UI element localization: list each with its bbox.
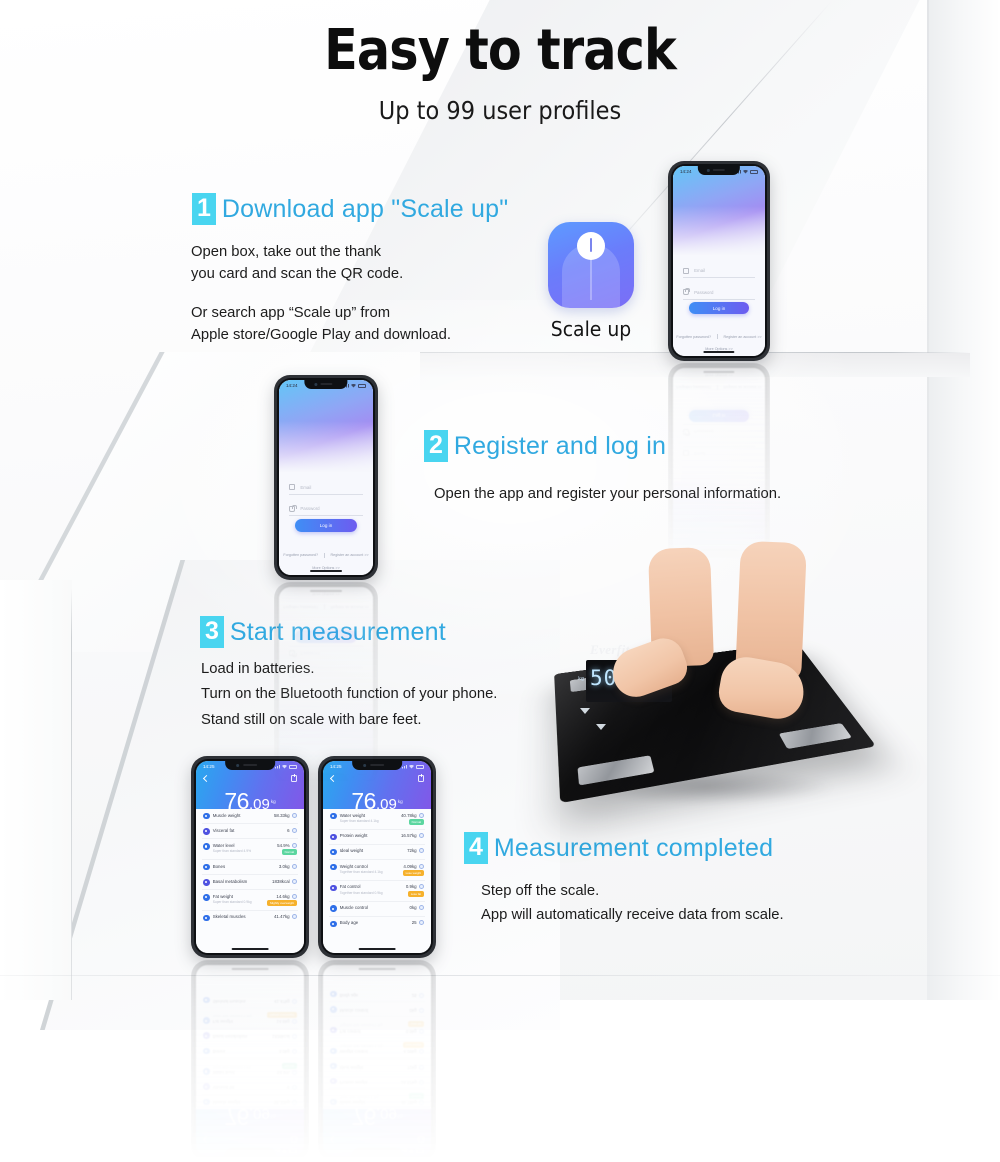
wifi-icon bbox=[409, 765, 414, 769]
metric-row[interactable]: Muscle weight58.33kg bbox=[202, 1094, 298, 1109]
weight-integer: 76 bbox=[351, 1104, 376, 1130]
metric-name: Protein weight bbox=[340, 833, 368, 838]
metric-status-badge: Lose weight bbox=[403, 1042, 424, 1048]
current-weight-display: 76.09kg bbox=[323, 1103, 431, 1130]
metric-bullet-icon bbox=[330, 905, 337, 912]
metric-texts: Body age bbox=[340, 920, 359, 925]
metric-value-group: 4.09kgLose weight bbox=[403, 864, 424, 877]
metric-label-group: Basal metabolism bbox=[203, 879, 247, 886]
register-account-link[interactable]: Register an account >> bbox=[331, 553, 369, 557]
weight-integer: 76 bbox=[224, 1104, 249, 1130]
metric-value-group: 0.9kgLose fat bbox=[406, 884, 424, 897]
metric-info-icon[interactable] bbox=[419, 833, 424, 838]
metric-value-group: 4.09kgLose weight bbox=[403, 1042, 424, 1055]
metric-row[interactable]: Weight controlTogether than standard 4.1… bbox=[329, 860, 425, 881]
status-bar-time: 14:25 bbox=[203, 1149, 215, 1154]
metric-value-group: 3.0kg bbox=[279, 1049, 297, 1054]
metric-name: Bones bbox=[213, 864, 225, 869]
metric-row[interactable]: Skeletal muscles41.47kg bbox=[202, 911, 298, 925]
metric-value-row: 0.9kg bbox=[406, 884, 424, 889]
phone-camera bbox=[236, 764, 239, 767]
metric-texts: Basal metabolism bbox=[213, 1034, 248, 1039]
phone-notch bbox=[698, 166, 740, 175]
email-placeholder: Email bbox=[300, 485, 311, 490]
metric-name: Basal metabolism bbox=[213, 879, 248, 884]
scale-app-icon bbox=[548, 222, 634, 308]
metric-info-icon[interactable] bbox=[292, 828, 297, 833]
metric-info-icon[interactable] bbox=[419, 864, 424, 869]
background-floor-baseline bbox=[0, 975, 1000, 976]
page-subtitle: Up to 99 user profiles bbox=[50, 96, 950, 125]
metric-status-badge: Lose weight bbox=[403, 870, 424, 876]
metric-value: 6 bbox=[287, 828, 289, 833]
metric-value-row: 58.33kg bbox=[274, 1100, 297, 1105]
results-header-gradient bbox=[196, 1109, 304, 1157]
metric-row[interactable]: Fat weightSuper than standard 0.9kg14.6k… bbox=[202, 890, 298, 911]
metric-value: 16.57kg bbox=[401, 833, 417, 838]
metric-texts: Basal metabolism bbox=[213, 879, 248, 884]
app-icon-label: Scale up bbox=[549, 317, 634, 341]
lock-icon bbox=[683, 289, 689, 295]
metric-info-icon[interactable] bbox=[292, 1085, 297, 1090]
metric-label-group: Visceral fat bbox=[203, 828, 234, 835]
metric-bullet-icon bbox=[203, 894, 210, 901]
status-bar-time: 14:24 bbox=[286, 383, 298, 388]
weight-integer: 76 bbox=[224, 788, 249, 814]
weight-unit: kg bbox=[398, 799, 403, 804]
phone-speaker bbox=[243, 764, 257, 766]
metric-texts: Skeletal muscles bbox=[213, 914, 246, 919]
metric-value-row: 3.0kg bbox=[279, 864, 297, 869]
step-1-body-first: Open box, take out the thank you card an… bbox=[191, 241, 403, 285]
metric-value-group: 1838kcal bbox=[272, 1034, 297, 1039]
metric-label-group: Protein weight bbox=[330, 1078, 368, 1085]
email-field[interactable]: Email bbox=[289, 481, 362, 495]
metric-info-icon[interactable] bbox=[292, 1100, 297, 1105]
metric-subtext: Super than standard 0.9kg bbox=[213, 900, 252, 904]
metric-info-icon[interactable] bbox=[292, 894, 297, 899]
background-right-slab bbox=[928, 0, 1000, 1000]
metric-info-icon[interactable] bbox=[292, 864, 297, 869]
metric-info-icon[interactable] bbox=[419, 1100, 424, 1105]
metric-label-group: Muscle control bbox=[330, 905, 368, 912]
metric-texts: Protein weight bbox=[340, 1080, 368, 1085]
status-bar-time: 14:25 bbox=[330, 764, 342, 769]
weight-decimal: .09 bbox=[376, 796, 397, 813]
metric-texts: Visceral fat bbox=[213, 828, 235, 833]
metric-texts: Muscle weight bbox=[213, 1100, 241, 1105]
metric-bullet-icon bbox=[330, 1048, 337, 1055]
background-left-wall bbox=[0, 580, 72, 1000]
mail-icon bbox=[289, 484, 295, 490]
metric-value-group: 16.57kg bbox=[401, 1080, 424, 1085]
metric-name: Muscle control bbox=[340, 905, 368, 910]
results-nav-row bbox=[323, 1134, 431, 1145]
metric-value: 1838kcal bbox=[272, 879, 290, 884]
metric-info-icon[interactable] bbox=[419, 1080, 424, 1085]
metric-value-row: 3.0kg bbox=[279, 1049, 297, 1054]
login-button[interactable]: Log in bbox=[295, 519, 357, 532]
phone-speaker bbox=[370, 1152, 384, 1154]
metric-texts: Fat weightSuper than standard 0.9kg bbox=[213, 894, 252, 904]
current-weight-display: 76.09kg bbox=[196, 788, 304, 815]
phone-bezel: 14:24 Email Password bbox=[277, 378, 375, 577]
phone-screen: 14:25 76.09kg Muscle weight58.33kgViscer… bbox=[196, 761, 304, 953]
metric-subtext: Together than standard 4.1kg bbox=[340, 870, 383, 874]
background-left-wall-edge bbox=[71, 588, 72, 1000]
metric-value-row: 4.09kg bbox=[403, 1049, 424, 1054]
metric-value-row: 72kg bbox=[407, 848, 424, 853]
login-links: Forgotten password? Register an account … bbox=[673, 334, 765, 339]
metric-name: Ideal weight bbox=[340, 1065, 363, 1070]
email-field[interactable]: Email bbox=[683, 265, 755, 279]
phone-bezel: 14:24 Email Password bbox=[671, 164, 767, 358]
phone-screen: 14:24 Email Password bbox=[279, 380, 373, 575]
back-chevron-icon[interactable] bbox=[330, 1136, 334, 1143]
phone-camera bbox=[314, 383, 317, 386]
metric-value: 54.9% bbox=[277, 843, 289, 848]
wifi-icon bbox=[351, 384, 356, 388]
metric-texts: Protein weight bbox=[340, 833, 368, 838]
results-header-gradient bbox=[323, 1109, 431, 1157]
wifi-icon bbox=[409, 1150, 414, 1154]
metric-value-group: 58.33kg bbox=[274, 1100, 297, 1105]
metric-status-badge: Normal bbox=[409, 819, 424, 825]
step-3-number-badge: 3 bbox=[200, 616, 224, 648]
metric-info-icon[interactable] bbox=[292, 1070, 297, 1075]
phone-notch bbox=[352, 1148, 402, 1157]
weight-decimal: .09 bbox=[249, 1105, 270, 1122]
page-title: Easy to track bbox=[60, 22, 940, 81]
metric-name: Water level bbox=[213, 1070, 251, 1075]
results-nav-row bbox=[323, 773, 431, 784]
metric-value-group: 40.78kgNormal bbox=[401, 1093, 424, 1106]
metric-value-group: 1838kcal bbox=[272, 879, 297, 884]
phone-camera bbox=[707, 169, 710, 172]
share-icon[interactable] bbox=[418, 775, 424, 782]
metric-value: 16.57kg bbox=[401, 1080, 417, 1085]
metric-value-row: 25 bbox=[412, 920, 424, 925]
metric-name: Weight control bbox=[340, 1049, 383, 1054]
link-separator bbox=[717, 334, 718, 339]
metric-bullet-icon bbox=[203, 864, 210, 871]
metric-value-group: 16.57kg bbox=[401, 833, 424, 838]
metric-value-row: 0kg bbox=[410, 905, 424, 910]
weight-unit: kg bbox=[271, 799, 276, 804]
metric-value-group: 6 bbox=[287, 1085, 297, 1090]
scale-indicator-triangle-1 bbox=[580, 708, 590, 714]
step-2-heading: 2 Register and log in bbox=[424, 430, 666, 462]
password-field[interactable]: Password bbox=[683, 286, 755, 300]
step-3-heading: 3 Start measurement bbox=[200, 616, 446, 648]
metric-value-row: 16.57kg bbox=[401, 1080, 424, 1085]
metric-info-icon[interactable] bbox=[292, 843, 297, 848]
phone-bezel: 14:25 76.09kg Water weightSuper than sta… bbox=[321, 759, 433, 955]
weight-unit: kg bbox=[398, 1114, 403, 1119]
metric-value: 4.09kg bbox=[403, 1049, 416, 1054]
metric-value-row: 1838kcal bbox=[272, 879, 297, 884]
step-2-title: Register and log in bbox=[454, 432, 666, 461]
metric-status-badge: Normal bbox=[282, 849, 297, 855]
metric-value-group: 0kg bbox=[410, 905, 424, 910]
register-account-link[interactable]: Register an account >> bbox=[724, 335, 762, 339]
metric-texts: Ideal weight bbox=[340, 1065, 363, 1070]
share-icon[interactable] bbox=[291, 1136, 297, 1143]
metric-label-group: Bones bbox=[203, 1048, 225, 1055]
metric-bullet-icon bbox=[203, 1083, 210, 1090]
metric-label-group: Weight controlTogether than standard 4.1… bbox=[330, 1044, 383, 1054]
metric-value-group: 6 bbox=[287, 828, 297, 833]
phone-speaker bbox=[713, 169, 725, 171]
metric-info-icon[interactable] bbox=[292, 1034, 297, 1039]
metric-value: 0kg bbox=[410, 905, 417, 910]
metric-status-badge: Normal bbox=[282, 1063, 297, 1069]
metric-label-group: Protein weight bbox=[330, 833, 368, 840]
metric-row[interactable]: Water levelSuper than standard 4.9%54.9%… bbox=[202, 839, 298, 860]
phone-notch bbox=[225, 1148, 275, 1157]
step-4-body: Step off the scale. App will automatical… bbox=[481, 880, 784, 928]
metric-bullet-icon bbox=[330, 921, 337, 928]
metric-bullet-icon bbox=[330, 834, 337, 841]
step-1-title: Download app "Scale up" bbox=[222, 195, 508, 224]
metric-value-row: 1838kcal bbox=[272, 1034, 297, 1039]
metric-value-group: 54.9%Normal bbox=[277, 843, 297, 856]
lock-icon bbox=[289, 506, 295, 512]
weight-decimal: .09 bbox=[376, 1105, 397, 1122]
metric-info-icon[interactable] bbox=[292, 879, 297, 884]
step-1-heading: 1 Download app "Scale up" bbox=[192, 193, 508, 225]
metric-status-badge: Slightly overweight bbox=[267, 900, 297, 906]
metric-row[interactable]: Protein weight16.57kg bbox=[329, 830, 425, 845]
wifi-icon bbox=[282, 765, 287, 769]
login-links: Forgotten password? Register an account … bbox=[279, 553, 373, 558]
metric-row[interactable]: Bones3.0kg bbox=[202, 860, 298, 875]
scale-led-unit: kg bbox=[578, 676, 584, 682]
app-icon-group: Scale up bbox=[546, 222, 636, 341]
metric-value: 1838kcal bbox=[272, 1034, 290, 1039]
metric-row[interactable]: Bones3.0kg bbox=[202, 1043, 298, 1058]
metric-info-icon[interactable] bbox=[419, 1065, 424, 1070]
metric-row[interactable]: Muscle control0kg bbox=[329, 902, 425, 917]
metric-row[interactable]: Water weightSuper than standard 4.1kg40.… bbox=[329, 1088, 425, 1109]
metric-value: 4.09kg bbox=[403, 864, 416, 869]
status-bar-icons bbox=[402, 1150, 424, 1154]
login-button[interactable]: Log in bbox=[689, 302, 750, 315]
metric-row[interactable]: Basal metabolism1838kcal bbox=[202, 875, 298, 890]
share-icon[interactable] bbox=[291, 775, 297, 782]
metric-texts: Water levelSuper than standard 4.9% bbox=[213, 1065, 251, 1075]
metric-texts: Fat controlTogether than standard 0.9kg bbox=[340, 884, 383, 894]
metric-value-row: 16.57kg bbox=[401, 833, 424, 838]
metric-bullet-icon bbox=[203, 1099, 210, 1106]
metric-bullet-icon bbox=[203, 1068, 210, 1075]
metric-texts: Bones bbox=[213, 864, 225, 869]
password-placeholder: Password bbox=[694, 290, 713, 295]
back-chevron-icon[interactable] bbox=[203, 1136, 207, 1143]
metric-row[interactable]: Visceral fat6 bbox=[202, 1079, 298, 1094]
metric-name: Weight control bbox=[340, 864, 383, 869]
metric-info-icon[interactable] bbox=[419, 920, 424, 925]
phone-results-left: 14:25 76.09kg Muscle weight58.33kgViscer… bbox=[191, 756, 309, 958]
weight-decimal: .09 bbox=[249, 796, 270, 813]
metric-texts: Weight controlTogether than standard 4.1… bbox=[340, 864, 383, 874]
metric-value-row: 54.9% bbox=[277, 843, 297, 848]
status-bar-icons bbox=[275, 765, 297, 769]
phone-camera bbox=[363, 764, 366, 767]
metric-label-group: Water levelSuper than standard 4.9% bbox=[203, 1065, 251, 1075]
metric-row[interactable]: Visceral fat6 bbox=[202, 824, 298, 839]
metric-value-group: 72kg bbox=[407, 1065, 424, 1070]
metric-label-group: Water weightSuper than standard 4.1kg bbox=[330, 1095, 379, 1105]
metric-subtext: Together than standard 0.9kg bbox=[340, 891, 383, 895]
metric-value: 72kg bbox=[407, 848, 417, 853]
metric-value-row: 54.9% bbox=[277, 1070, 297, 1075]
metric-label-group: Body age bbox=[330, 920, 358, 927]
status-bar-time: 14:25 bbox=[203, 764, 215, 769]
battery-icon bbox=[358, 384, 366, 388]
battery-icon bbox=[289, 765, 297, 769]
metric-subtext: Super than standard 4.9% bbox=[213, 1065, 251, 1069]
metric-label-group: Bones bbox=[203, 864, 225, 871]
metric-row[interactable]: Ideal weight72kg bbox=[329, 1058, 425, 1073]
step-3-body: Load in batteries. Turn on the Bluetooth… bbox=[201, 657, 497, 733]
metric-label-group: Ideal weight bbox=[330, 1063, 363, 1070]
metric-value: 6 bbox=[287, 1085, 289, 1090]
metric-texts: Weight controlTogether than standard 4.1… bbox=[340, 1044, 383, 1054]
metric-value-row: 41.47kg bbox=[274, 914, 297, 919]
email-placeholder: Email bbox=[694, 268, 705, 273]
metric-texts: Water weightSuper than standard 4.1kg bbox=[340, 1095, 379, 1105]
metric-bullet-icon bbox=[203, 1033, 210, 1040]
forgot-password-link[interactable]: Forgotten password? bbox=[676, 335, 711, 339]
metric-texts: Bones bbox=[213, 1049, 225, 1054]
metric-value: 3.0kg bbox=[279, 1049, 290, 1054]
step-1-number-badge: 1 bbox=[192, 193, 216, 225]
status-bar-time: 14:25 bbox=[330, 1149, 342, 1154]
share-icon[interactable] bbox=[418, 1136, 424, 1143]
metric-info-icon[interactable] bbox=[292, 1049, 297, 1054]
metric-label-group: Ideal weight bbox=[330, 848, 363, 855]
metric-bullet-icon bbox=[203, 828, 210, 835]
metric-row[interactable]: Protein weight16.57kg bbox=[329, 1073, 425, 1088]
metric-name: Basal metabolism bbox=[213, 1034, 248, 1039]
metric-label-group: Water levelSuper than standard 4.9% bbox=[203, 843, 251, 853]
metric-info-icon[interactable] bbox=[419, 884, 424, 889]
metric-subtext: Super than standard 4.1kg bbox=[340, 1095, 379, 1099]
metric-bullet-icon bbox=[330, 885, 337, 892]
status-bar: 14:25 bbox=[323, 1146, 431, 1157]
metric-label-group: Visceral fat bbox=[203, 1083, 234, 1090]
phone-notch bbox=[225, 761, 275, 770]
metric-texts: Water levelSuper than standard 4.9% bbox=[213, 843, 251, 853]
metric-value-group: 3.0kg bbox=[279, 864, 297, 869]
metric-name: Protein weight bbox=[340, 1080, 368, 1085]
back-chevron-icon[interactable] bbox=[330, 775, 334, 782]
metric-name: Fat weight bbox=[213, 894, 252, 899]
metric-name: Visceral fat bbox=[213, 1085, 235, 1090]
metric-row[interactable]: Body age25 bbox=[329, 917, 425, 931]
phone-screen: 14:24 Email Password bbox=[673, 166, 765, 356]
metric-info-icon[interactable] bbox=[419, 848, 424, 853]
metric-row[interactable]: Weight controlTogether than standard 4.1… bbox=[329, 1037, 425, 1058]
phone-speaker bbox=[320, 383, 332, 385]
metric-label-group: Weight controlTogether than standard 4.1… bbox=[330, 864, 383, 874]
metric-value-group: 54.9%Normal bbox=[277, 1063, 297, 1076]
step-1-body-second: Or search app “Scale up” from Apple stor… bbox=[191, 302, 451, 346]
metric-texts: Ideal weight bbox=[340, 848, 363, 853]
battery-icon bbox=[416, 1150, 424, 1154]
metric-label-group: Basal metabolism bbox=[203, 1033, 247, 1040]
metric-value: 3.0kg bbox=[279, 864, 290, 869]
phone-results-right: 14:25 76.09kg Water weightSuper than sta… bbox=[318, 756, 436, 958]
metric-row[interactable]: Fat controlTogether than standard 0.9kg0… bbox=[329, 881, 425, 902]
metric-value-row: 40.78kg bbox=[401, 1100, 424, 1105]
password-field[interactable]: Password bbox=[289, 503, 362, 517]
back-chevron-icon[interactable] bbox=[203, 775, 207, 782]
metric-info-icon[interactable] bbox=[419, 905, 424, 910]
metric-row[interactable]: Water levelSuper than standard 4.9%54.9%… bbox=[202, 1058, 298, 1079]
metric-value: 40.78kg bbox=[401, 1100, 417, 1105]
metric-bullet-icon bbox=[203, 1048, 210, 1055]
results-metric-list[interactable]: Muscle weight58.33kgVisceral fat6Water l… bbox=[196, 809, 304, 953]
metric-name: Fat control bbox=[340, 884, 383, 889]
phone-screen: 14:25 76.09kg Water weightSuper than sta… bbox=[323, 761, 431, 953]
metric-name: Body age bbox=[340, 920, 359, 925]
metric-label-group: Fat weightSuper than standard 0.9kg bbox=[203, 894, 252, 904]
metric-row[interactable]: Ideal weight72kg bbox=[329, 845, 425, 860]
metric-bullet-icon bbox=[203, 879, 210, 886]
metric-value: 14.6kg bbox=[276, 894, 289, 899]
metric-status-badge: Lose fat bbox=[408, 891, 424, 897]
results-nav-row bbox=[196, 1134, 304, 1145]
metric-label-group: Skeletal muscles bbox=[203, 914, 246, 921]
metric-bullet-icon bbox=[330, 1063, 337, 1070]
metric-label-group: Fat controlTogether than standard 0.9kg bbox=[330, 884, 383, 894]
metric-info-icon[interactable] bbox=[292, 914, 297, 919]
metric-value: 41.47kg bbox=[274, 914, 290, 919]
battery-icon bbox=[750, 170, 758, 174]
metric-info-icon[interactable] bbox=[419, 1049, 424, 1054]
metric-bullet-icon bbox=[203, 915, 210, 922]
phone-login-middle: 14:24 Email Password bbox=[274, 375, 378, 580]
metric-name: Muscle weight bbox=[213, 1100, 241, 1105]
metric-bullet-icon bbox=[203, 843, 210, 850]
metric-subtext: Super than standard 4.1kg bbox=[340, 819, 379, 823]
metric-name: Skeletal muscles bbox=[213, 914, 246, 919]
login-screen-gradient bbox=[279, 380, 373, 472]
metric-value: 72kg bbox=[407, 1065, 417, 1070]
metric-value: 58.33kg bbox=[274, 1100, 290, 1105]
metric-bullet-icon bbox=[330, 864, 337, 871]
metric-label-group: Muscle weight bbox=[203, 1099, 241, 1106]
metric-value-row: 14.6kg bbox=[276, 894, 297, 899]
metric-value-row: 4.09kg bbox=[403, 864, 424, 869]
metric-name: Bones bbox=[213, 1049, 225, 1054]
metric-name: Water weight bbox=[340, 1100, 379, 1105]
metric-value-row: 6 bbox=[287, 1085, 297, 1090]
link-separator bbox=[324, 553, 325, 558]
metric-row[interactable]: Basal metabolism1838kcal bbox=[202, 1028, 298, 1043]
results-metric-list[interactable]: Water weightSuper than standard 4.1kg40.… bbox=[323, 809, 431, 953]
forgot-password-link[interactable]: Forgotten password? bbox=[283, 553, 318, 557]
metric-bullet-icon bbox=[330, 1078, 337, 1085]
status-bar-icons bbox=[344, 384, 366, 388]
metric-name: Visceral fat bbox=[213, 828, 235, 833]
metric-texts: Visceral fat bbox=[213, 1085, 235, 1090]
metric-subtext: Super than standard 4.9% bbox=[213, 849, 251, 853]
metric-value: 25 bbox=[412, 920, 417, 925]
step-2-number-badge: 2 bbox=[424, 430, 448, 462]
